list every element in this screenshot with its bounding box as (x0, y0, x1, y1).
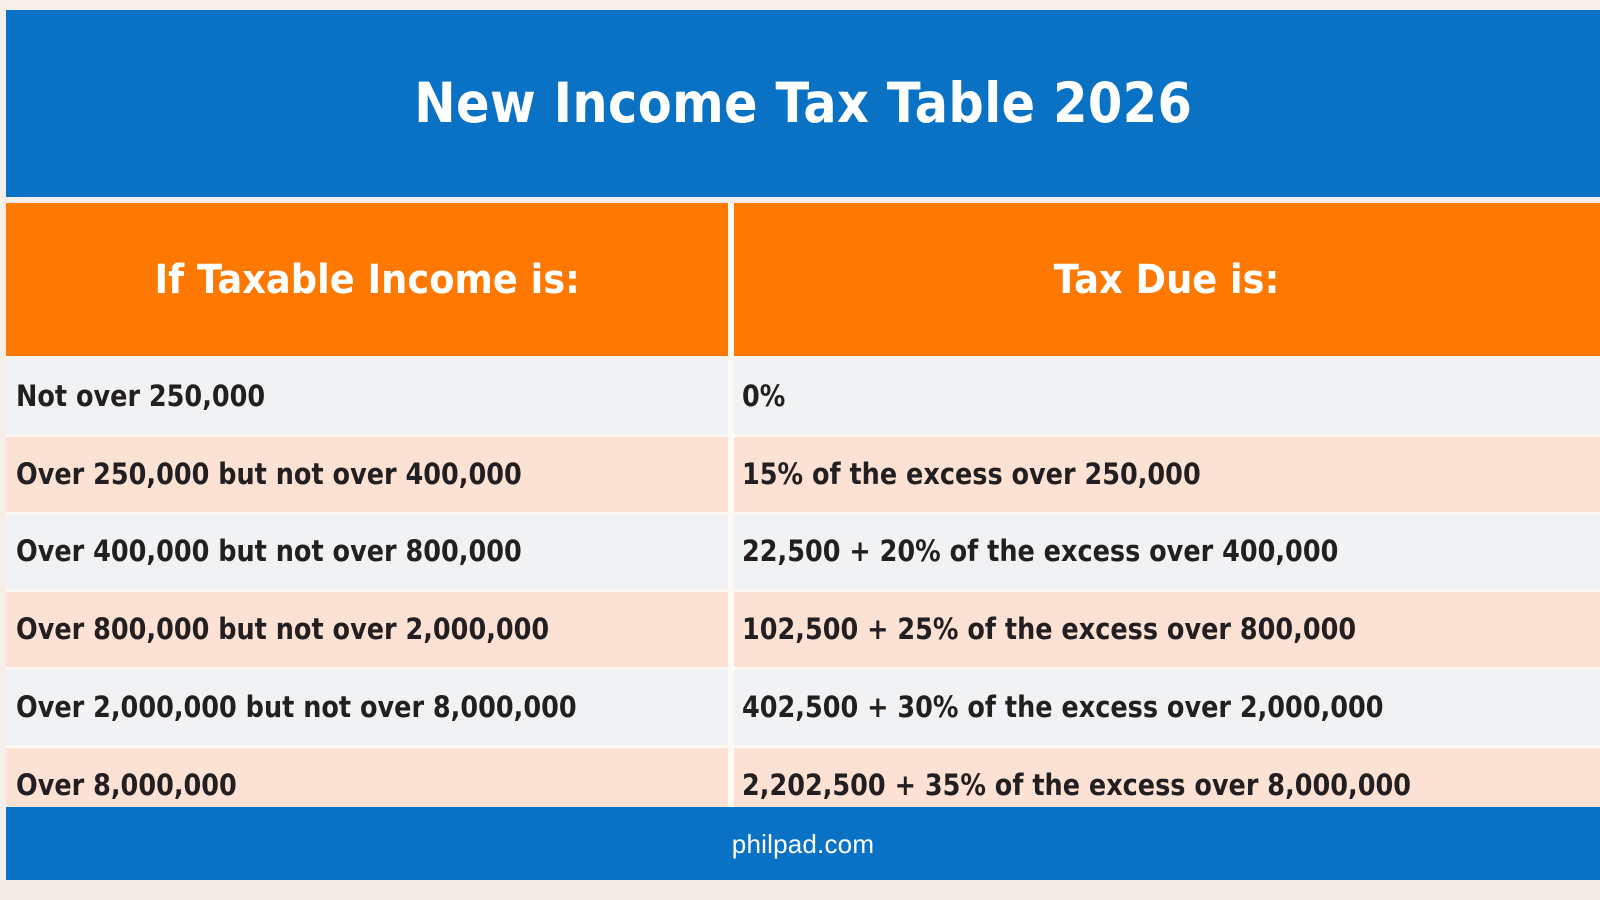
header-cell-tax-due: Tax Due is: (734, 203, 1600, 356)
cell-tax-due: 402,500 + 30% of the excess over 2,000,0… (734, 670, 1600, 745)
table-row: Over 400,000 but not over 800,000 22,500… (6, 515, 1600, 590)
header-cell-income: If Taxable Income is: (6, 203, 728, 356)
column-header-tax-due-label: Tax Due is: (1054, 260, 1280, 300)
table-row: Not over 250,000 0% (6, 359, 1600, 434)
tax-due-text: 102,500 + 25% of the excess over 800,000 (742, 615, 1356, 644)
tax-due-text: 15% of the excess over 250,000 (742, 460, 1201, 489)
column-header-income-label: If Taxable Income is: (154, 260, 579, 300)
table-header-row: If Taxable Income is: Tax Due is: (6, 203, 1600, 356)
tax-due-text: 2,202,500 + 35% of the excess over 8,000… (742, 771, 1411, 800)
left-margin (0, 0, 6, 900)
cell-tax-due: 0% (734, 359, 1600, 434)
cell-tax-due: 22,500 + 20% of the excess over 400,000 (734, 515, 1600, 590)
income-bracket-text: Over 250,000 but not over 400,000 (16, 460, 522, 489)
source-attribution: philpad.com (732, 831, 874, 857)
income-bracket-text: Over 2,000,000 but not over 8,000,000 (16, 693, 577, 722)
footer-banner: philpad.com (6, 807, 1600, 880)
tax-table: If Taxable Income is: Tax Due is: Not ov… (6, 203, 1600, 805)
cell-income: Over 800,000 but not over 2,000,000 (6, 592, 728, 667)
bottom-margin (0, 880, 1600, 900)
income-bracket-text: Over 800,000 but not over 2,000,000 (16, 615, 549, 644)
table-row: Over 250,000 but not over 400,000 15% of… (6, 437, 1600, 512)
title-banner: New Income Tax Table 2026 (6, 10, 1600, 197)
cell-tax-due: 102,500 + 25% of the excess over 800,000 (734, 592, 1600, 667)
table-row: Over 800,000 but not over 2,000,000 102,… (6, 592, 1600, 667)
income-bracket-text: Over 400,000 but not over 800,000 (16, 537, 522, 566)
top-margin (0, 0, 1600, 10)
income-bracket-text: Over 8,000,000 (16, 771, 237, 800)
cell-tax-due: 15% of the excess over 250,000 (734, 437, 1600, 512)
tax-due-text: 22,500 + 20% of the excess over 400,000 (742, 537, 1338, 566)
income-bracket-text: Not over 250,000 (16, 382, 265, 411)
income-tax-table-infographic: New Income Tax Table 2026 If Taxable Inc… (0, 0, 1600, 900)
table-row: Over 2,000,000 but not over 8,000,000 40… (6, 670, 1600, 745)
cell-income: Over 400,000 but not over 800,000 (6, 515, 728, 590)
cell-income: Not over 250,000 (6, 359, 728, 434)
cell-income: Over 2,000,000 but not over 8,000,000 (6, 670, 728, 745)
cell-income: Over 250,000 but not over 400,000 (6, 437, 728, 512)
tax-due-text: 0% (742, 382, 785, 411)
tax-due-text: 402,500 + 30% of the excess over 2,000,0… (742, 693, 1384, 722)
page-title: New Income Tax Table 2026 (414, 76, 1192, 131)
